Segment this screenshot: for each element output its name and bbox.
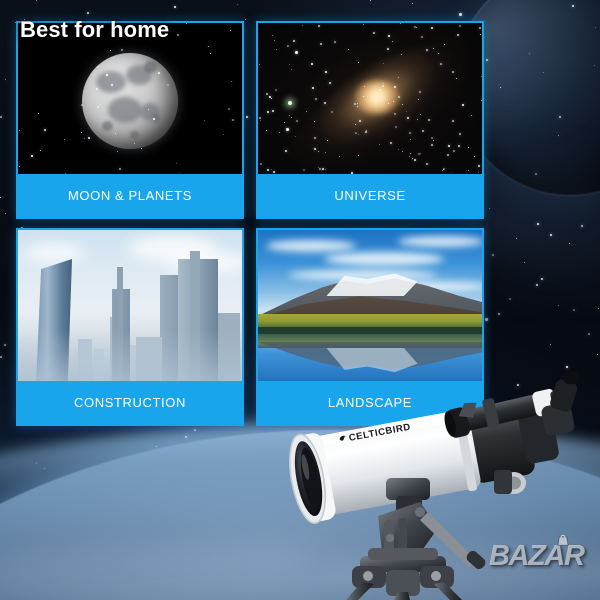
card-thumbnail-universe — [258, 23, 482, 178]
bright-star — [288, 101, 292, 105]
atmospheric-haze — [18, 329, 242, 385]
category-card-moon-planets[interactable]: MOON & PLANETS — [16, 21, 244, 219]
page-title: Best for home — [20, 17, 169, 43]
galaxy-core — [355, 80, 399, 114]
category-card-construction[interactable]: CONSTRUCTION — [16, 228, 244, 426]
promo-image-canvas: MOON & PLANETS UNIVERSE — [0, 0, 600, 600]
bright-star — [295, 51, 298, 54]
card-label: LANDSCAPE — [258, 381, 482, 424]
card-label: CONSTRUCTION — [18, 381, 242, 424]
category-card-universe[interactable]: UNIVERSE — [256, 21, 484, 219]
card-thumbnail-moon — [18, 23, 242, 178]
card-thumbnail-landscape — [258, 230, 482, 385]
bright-star — [286, 128, 289, 131]
cloud-band — [0, 550, 370, 600]
moon-graphic — [82, 53, 178, 149]
forest-shadow — [258, 327, 482, 334]
card-label: MOON & PLANETS — [18, 174, 242, 217]
card-label: UNIVERSE — [258, 174, 482, 217]
shopping-bag-icon — [555, 532, 571, 546]
category-card-landscape[interactable]: LANDSCAPE — [256, 228, 484, 426]
card-thumbnail-construction — [18, 230, 242, 385]
